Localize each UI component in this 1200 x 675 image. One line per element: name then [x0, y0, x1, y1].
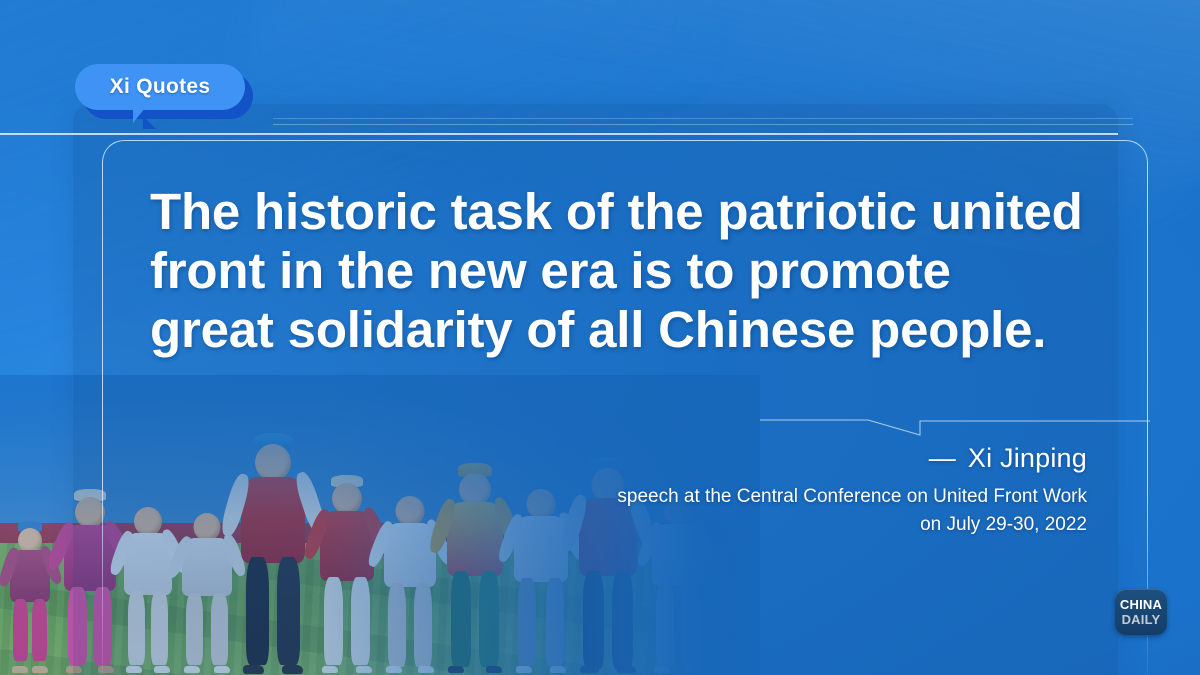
logo-line-daily: DAILY — [1122, 613, 1161, 626]
quote-line-2: front in the new era is to promote — [150, 241, 1110, 300]
decorative-notch-divider — [760, 404, 1150, 438]
author-name-text: Xi Jinping — [968, 443, 1087, 473]
badge-label: Xi Quotes — [110, 75, 211, 99]
child-figure — [8, 521, 52, 671]
source-citation: speech at the Central Conference on Unit… — [617, 483, 1087, 539]
author-name: —Xi Jinping — [617, 443, 1087, 474]
xi-quotes-badge[interactable]: Xi Quotes — [75, 64, 245, 110]
quote-card-canvas: Xi Quotes The historic task of the patri… — [0, 0, 1200, 675]
notch-divider-path — [760, 420, 1150, 435]
china-daily-logo[interactable]: CHINA DAILY — [1115, 589, 1167, 635]
decorative-line-bright — [0, 133, 1118, 135]
decorative-line-thin-2 — [273, 124, 1133, 125]
speech-bubble-tail — [133, 108, 150, 123]
logo-line-china: CHINA — [1120, 598, 1162, 611]
attribution-block: —Xi Jinping speech at the Central Confer… — [617, 443, 1087, 539]
speech-bubble-icon[interactable]: Xi Quotes — [75, 64, 245, 110]
source-line-1: speech at the Central Conference on Unit… — [617, 483, 1087, 511]
quote-text: The historic task of the patriotic unite… — [150, 182, 1110, 359]
source-line-2: on July 29-30, 2022 — [617, 511, 1087, 539]
em-dash: — — [929, 443, 956, 474]
quote-line-3: great solidarity of all Chinese people. — [150, 300, 1110, 359]
decorative-line-thin-1 — [273, 118, 1133, 119]
quote-line-1: The historic task of the patriotic unite… — [150, 182, 1110, 241]
